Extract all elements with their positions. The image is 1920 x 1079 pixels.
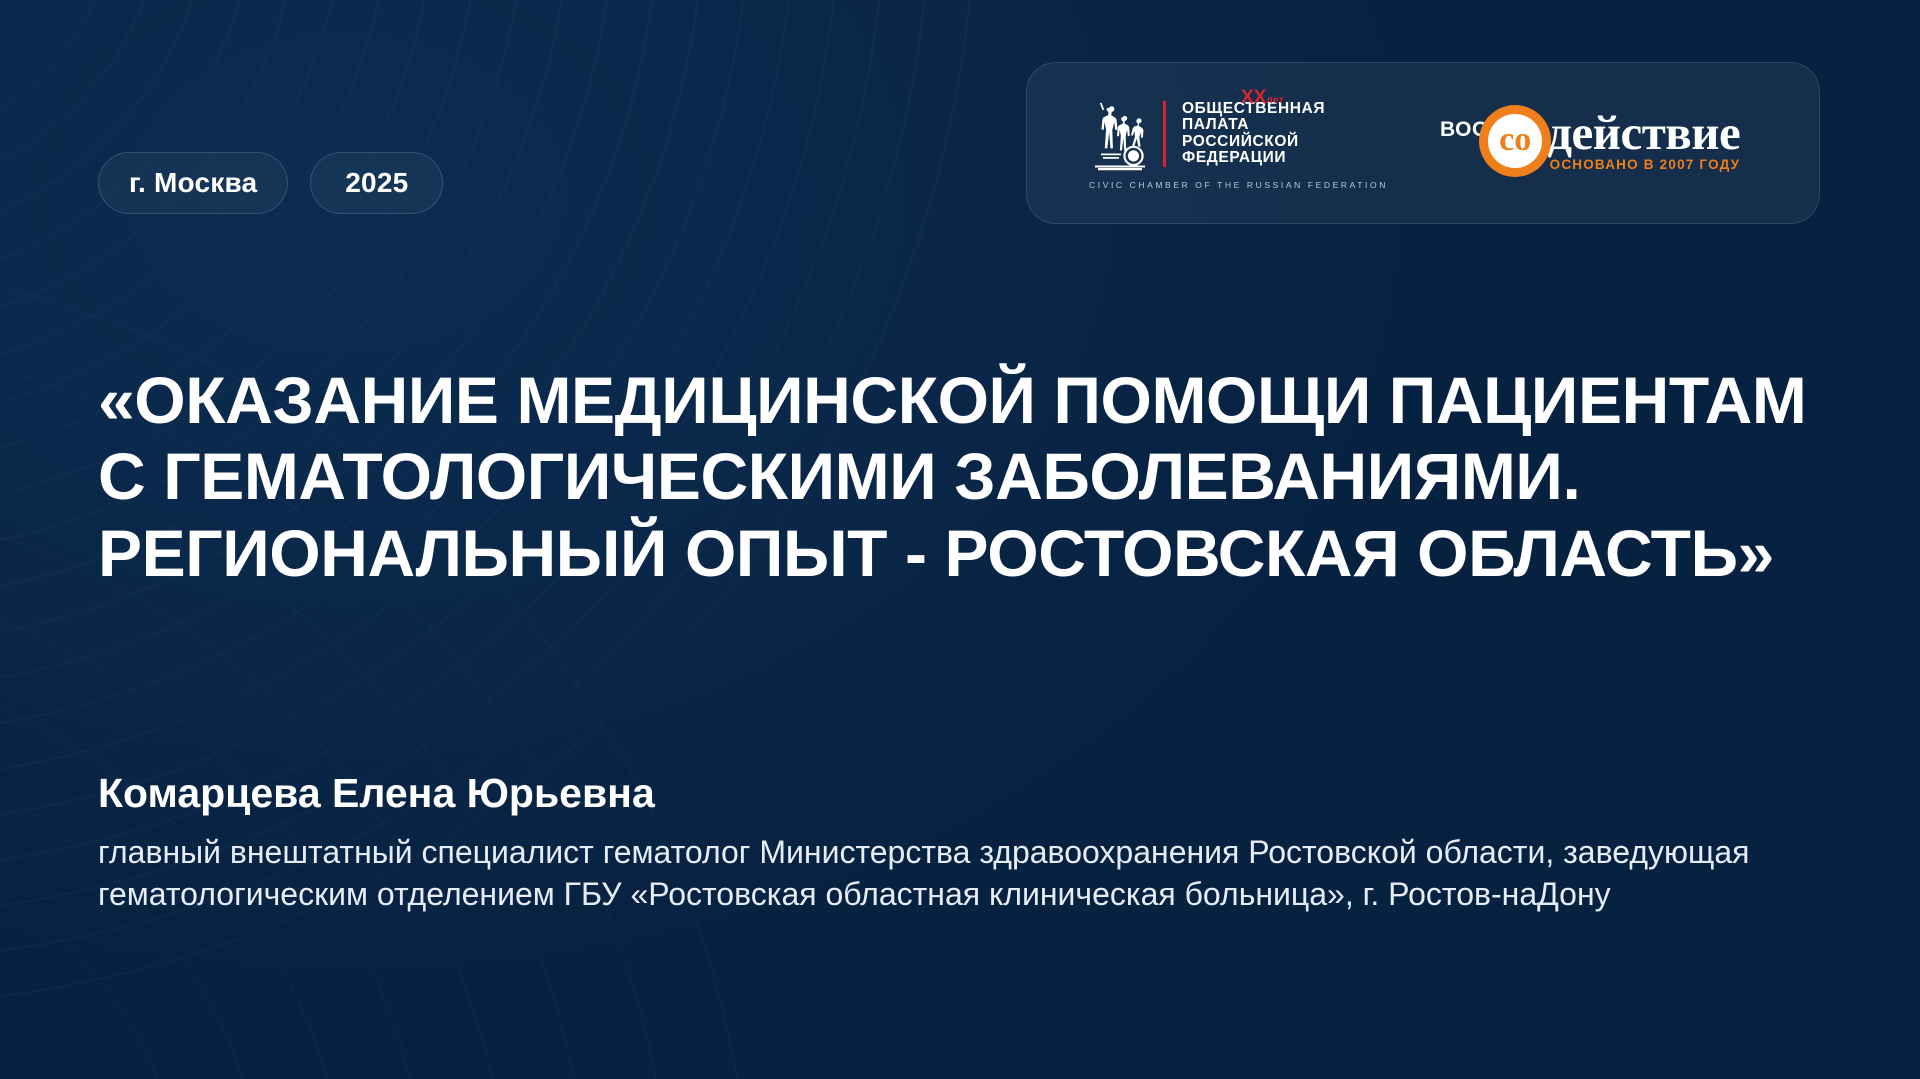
anniversary-number: XX (1241, 87, 1266, 108)
civic-chamber-anniversary-badge: XXлет (1241, 87, 1284, 109)
statue-monument-icon (1089, 97, 1151, 171)
civic-chamber-logo: ОБЩЕСТВЕННАЯ ПАЛАТА РОССИЙСКОЙ ФЕДЕРАЦИИ… (1089, 97, 1388, 190)
city-badge: г. Москва (98, 152, 288, 214)
sodeystvie-logo: ВООГ со действие ОСНОВАНО В 2007 ГОДУ (1440, 105, 1740, 177)
speaker-block: Комарцева Елена Юрьевна главный внештатн… (98, 770, 1818, 916)
slide-title: «Оказание медицинской помощи пациентам с… (98, 362, 1858, 591)
sodeystvie-wordmark: действие ОСНОВАНО В 2007 ГОДУ (1547, 110, 1740, 172)
sodeystvie-circle-text: со (1488, 114, 1542, 168)
sodeystvie-tagline: ОСНОВАНО В 2007 ГОДУ (1550, 157, 1741, 172)
civic-chamber-line-2: ПАЛАТА (1182, 117, 1325, 133)
sodeystvie-orange-circle-icon: со (1479, 105, 1551, 177)
civic-chamber-line-4: ФЕДЕРАЦИИ (1182, 150, 1325, 166)
logo-card: ОБЩЕСТВЕННАЯ ПАЛАТА РОССИЙСКОЙ ФЕДЕРАЦИИ… (1026, 62, 1820, 224)
slide-header: г. Москва 2025 (0, 0, 1920, 260)
civic-chamber-english-name: CIVIC CHAMBER OF THE RUSSIAN FEDERATION (1089, 180, 1388, 190)
speaker-description: главный внештатный специалист гематолог … (98, 831, 1818, 915)
year-badge: 2025 (310, 152, 443, 214)
civic-chamber-red-divider (1163, 101, 1166, 167)
sodeystvie-word: действие (1547, 110, 1740, 155)
meta-badges: г. Москва 2025 (98, 152, 443, 214)
civic-chamber-wordmark: ОБЩЕСТВЕННАЯ ПАЛАТА РОССИЙСКОЙ ФЕДЕРАЦИИ (1182, 101, 1325, 165)
anniversary-suffix: лет (1266, 95, 1283, 106)
civic-chamber-logo-main: ОБЩЕСТВЕННАЯ ПАЛАТА РОССИЙСКОЙ ФЕДЕРАЦИИ… (1089, 97, 1325, 171)
civic-chamber-line-3: РОССИЙСКОЙ (1182, 134, 1325, 150)
presentation-slide: г. Москва 2025 (0, 0, 1920, 1079)
speaker-name: Комарцева Елена Юрьевна (98, 770, 1818, 817)
